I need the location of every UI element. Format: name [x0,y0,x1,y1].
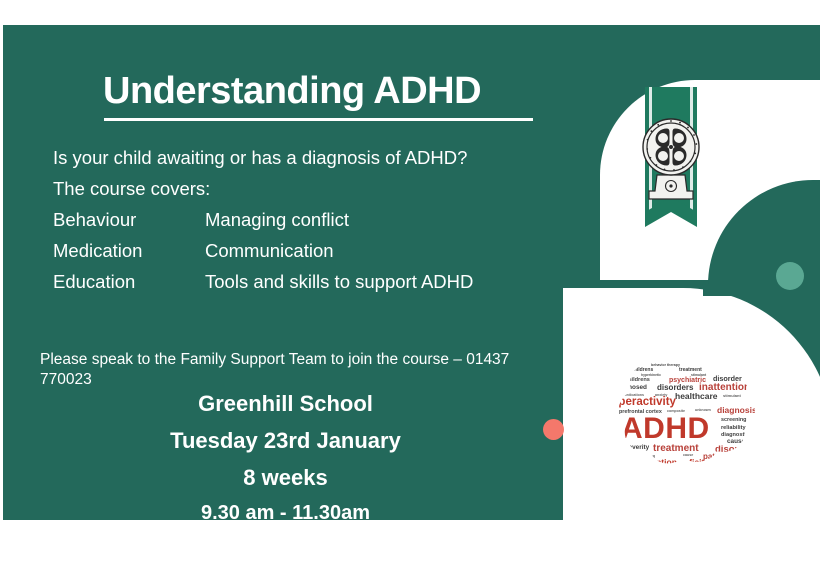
svg-text:disorder: disorder [715,444,753,455]
title-underline [104,118,533,121]
contact-instructions: Please speak to the Family Support Team … [40,350,530,390]
detail-duration: 8 weeks [3,465,568,491]
course-covers-label: The course covers: [53,178,210,200]
svg-text:hyperactivity: hyperactivity [605,396,677,408]
decorative-teal-circle [776,262,804,290]
svg-text:mixed: mixed [711,474,724,479]
detail-venue: Greenhill School [3,391,568,417]
adhd-brain-wordcloud: behavior therapy childrens treatment hyp… [595,345,775,490]
topic-left-label: Medication [53,240,205,262]
detail-date: Tuesday 23rd January [3,428,568,454]
svg-text:childrens: childrens [625,377,650,383]
svg-text:behavior therapy: behavior therapy [651,363,680,367]
svg-text:difficult: difficult [599,417,614,422]
list-item: Medication Communication [53,240,543,262]
topic-left-label: Education [53,271,205,293]
svg-text:diagnosed: diagnosed [615,384,647,391]
page-title: Understanding ADHD [103,70,481,113]
svg-text:impulsive: impulsive [599,423,618,428]
svg-text:healthcare: healthcare [675,391,718,401]
svg-text:childhood: childhood [681,474,712,481]
topic-right-label: Communication [205,240,543,262]
celtic-cross-ribbon-logo [631,87,711,237]
svg-text:distracted: distracted [599,429,619,434]
event-details: Greenhill School Tuesday 23rd January 8 … [3,391,568,520]
svg-text:stimulant: stimulant [723,393,741,398]
svg-text:ADHD: ADHD [621,412,710,445]
course-topics-list: Behaviour Managing conflict Medication C… [53,209,543,302]
list-item: Behaviour Managing conflict [53,209,543,231]
svg-text:severity: severity [625,444,650,451]
poster-text-content: Understanding ADHD Is your child awaitin… [3,25,563,520]
svg-text:attention deficit: attention deficit [641,457,704,467]
svg-text:screening: screening [721,417,746,423]
svg-text:nervous disorder: nervous disorder [701,462,739,467]
svg-text:develop: develop [645,468,661,473]
svg-text:patients: patients [703,452,734,461]
svg-text:confused: confused [599,435,617,440]
decorative-green-strip [703,288,820,296]
detail-time: 9.30 am - 11.30am [3,502,568,520]
svg-text:composite: composite [685,482,706,487]
topic-right-label: Tools and skills to support ADHD [205,271,543,293]
svg-text:increasing: increasing [635,453,656,458]
svg-text:diagnosis: diagnosis [717,405,757,415]
svg-text:assessment: assessment [703,468,727,473]
svg-text:lonely: lonely [599,411,611,416]
poster-green-background: behavior therapy childrens treatment hyp… [3,25,820,520]
topic-right-label: Managing conflict [205,209,543,231]
svg-text:reliability: reliability [721,425,746,431]
lead-question: Is your child awaiting or has a diagnosi… [53,147,467,169]
svg-text:struggle: struggle [599,441,616,446]
list-item: Education Tools and skills to support AD… [53,271,543,293]
adhd-course-poster: behavior therapy childrens treatment hyp… [0,0,820,580]
topic-left-label: Behaviour [53,209,205,231]
